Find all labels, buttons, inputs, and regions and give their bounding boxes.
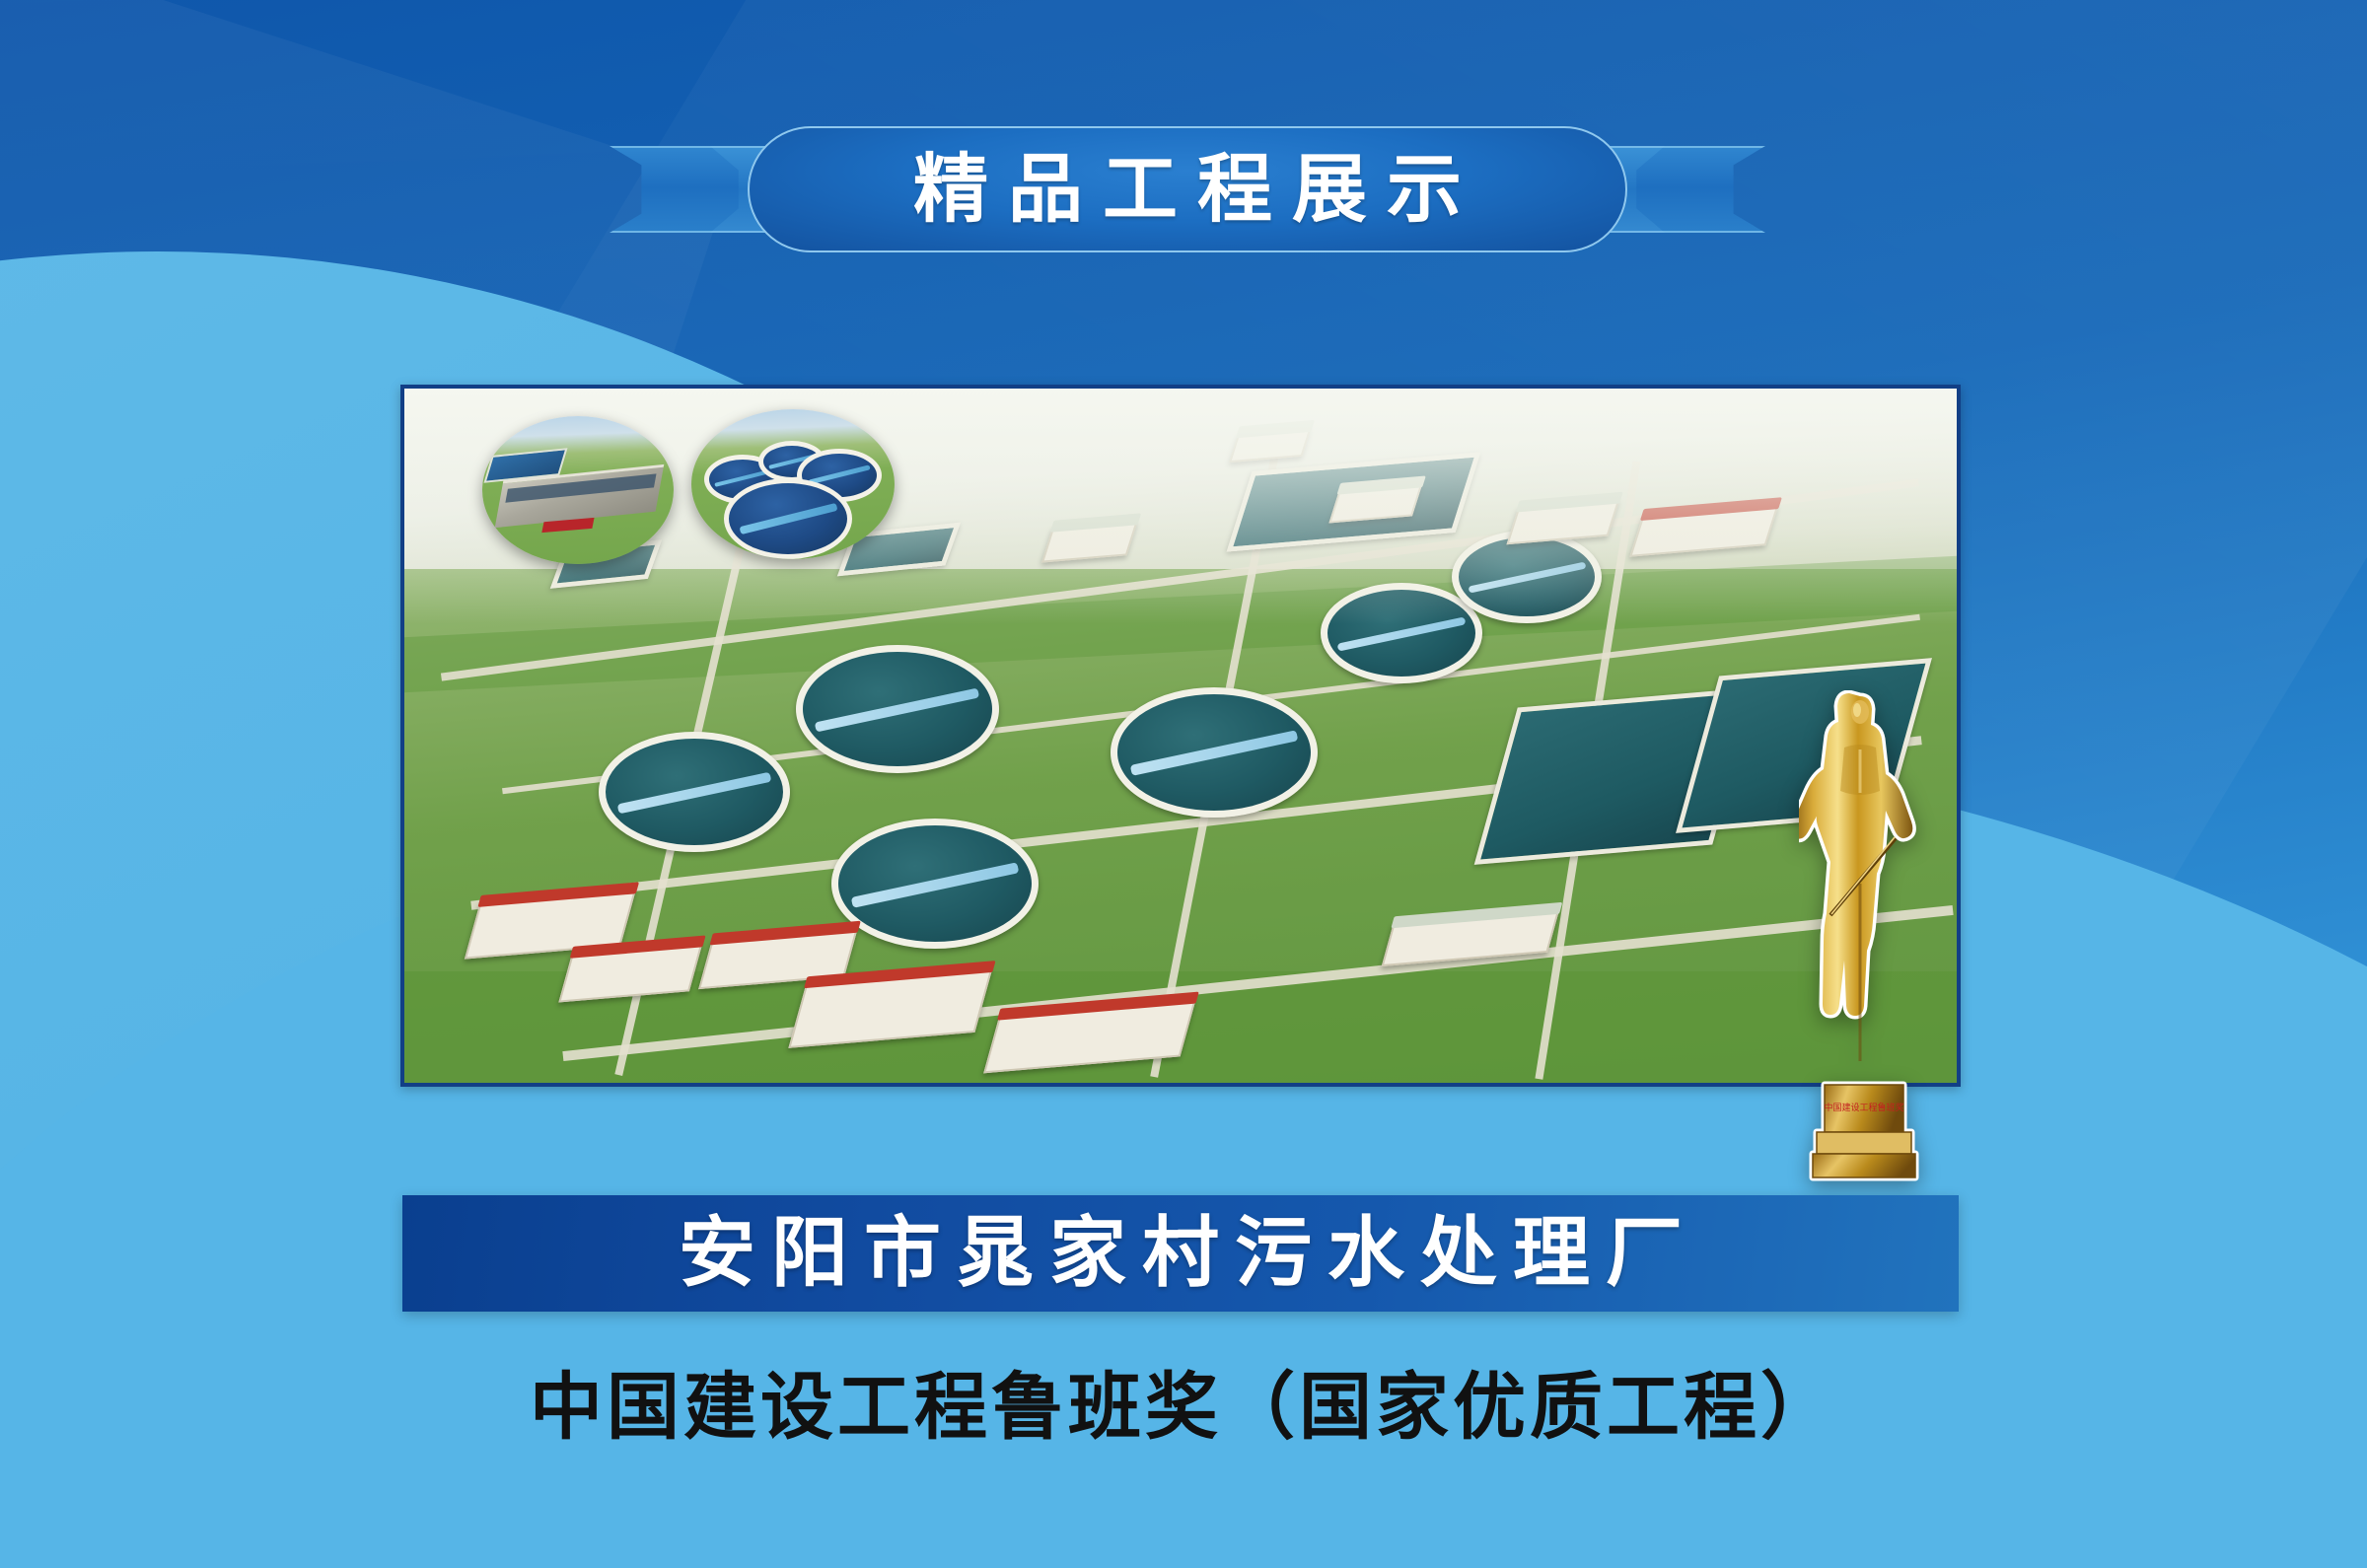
clarifier-tank-1	[599, 732, 790, 852]
inset-photo-aeration	[482, 416, 674, 564]
award-caption-text: 中国建设工程鲁班奖（国家优质工程）	[530, 1371, 1837, 1444]
inset-clarifier-tank-1	[724, 478, 852, 559]
banner-title: 精品工程展示	[894, 152, 1481, 227]
clarifier-tank-5	[1321, 583, 1482, 683]
project-title: 安阳市晁家村污水处理厂	[663, 1215, 1698, 1292]
luban-prize-trophy-icon: 中国建设工程鲁班奖	[1799, 690, 1929, 1183]
trophy-base-inscription: 中国建设工程鲁班奖	[1824, 1102, 1903, 1113]
clarifier-tank-4	[1111, 687, 1318, 818]
banner-pill: 精品工程展示	[748, 126, 1627, 252]
clarifier-tank-3	[831, 819, 1039, 949]
poster-canvas: 精品工程展示	[0, 0, 2367, 1568]
clarifier-tank-2	[796, 645, 999, 773]
clarifier-tank-6	[1452, 531, 1602, 623]
project-photo-frame	[400, 385, 1961, 1087]
inset-photo-clarifiers	[691, 409, 895, 559]
award-caption: 中国建设工程鲁班奖（国家优质工程）	[0, 1371, 2367, 1444]
project-title-bar: 安阳市晁家村污水处理厂	[402, 1195, 1959, 1312]
header-banner: 精品工程展示	[619, 126, 1756, 252]
